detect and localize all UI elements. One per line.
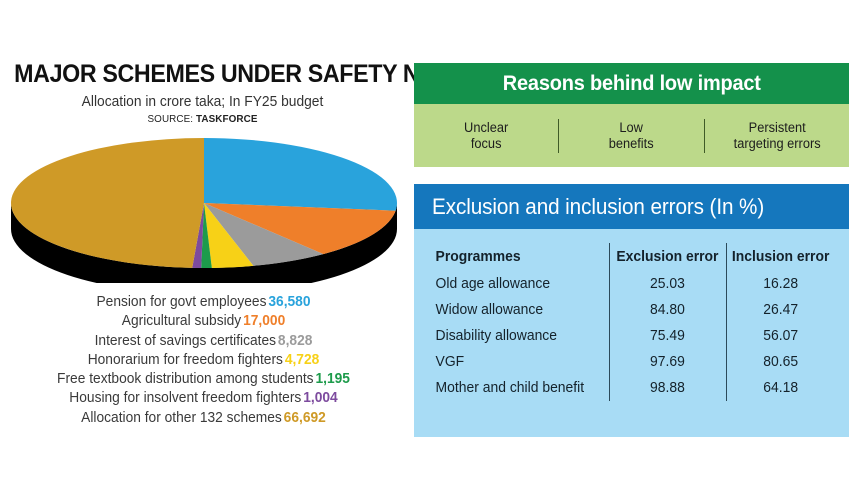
- pie-slice: [204, 138, 397, 211]
- chart-subtitle: Allocation in crore taka; In FY25 budget: [16, 93, 389, 110]
- list-item: Free textbook distribution among student…: [10, 370, 397, 389]
- reason-item-unclear-focus: Unclear focus: [418, 120, 555, 152]
- reasons-panel-header: Reasons behind low impact: [414, 63, 849, 104]
- cell-programme: Disability allowance: [436, 323, 606, 349]
- vertical-divider: [704, 119, 705, 153]
- table-body: Old age allowance 25.03 16.28 Widow allo…: [432, 271, 835, 401]
- list-item: Housing for insolvent freedom fighters1,…: [10, 389, 397, 408]
- source-credit: SOURCE: TASKFORCE: [12, 113, 393, 125]
- cell-exclusion-error: 98.88: [612, 375, 724, 401]
- source-value: TASKFORCE: [196, 113, 258, 125]
- reasons-panel-title: Reasons behind low impact: [503, 72, 761, 96]
- legend-value: 17,000: [241, 313, 285, 329]
- legend-value: 1,004: [301, 390, 337, 406]
- errors-panel: Exclusion and inclusion errors (In %) Pr…: [414, 184, 849, 437]
- legend-label: Free textbook distribution among student…: [57, 371, 314, 387]
- legend-label: Pension for govt employees: [96, 294, 266, 310]
- reasons-panel: Reasons behind low impact Unclear focus …: [414, 63, 849, 167]
- cell-inclusion-error: 80.65: [728, 349, 832, 375]
- reasons-row: Unclear focus Low benefits Persistent ta…: [414, 104, 849, 167]
- page-title: MAJOR SCHEMES UNDER SAFETY NET: [14, 62, 391, 87]
- cell-exclusion-error: 25.03: [612, 271, 724, 297]
- table-row: VGF 97.69 80.65: [432, 349, 835, 375]
- cell-programme: Mother and child benefit: [436, 375, 606, 401]
- table-row: Disability allowance 75.49 56.07: [432, 323, 835, 349]
- source-label: SOURCE:: [147, 113, 195, 125]
- cell-programme: Widow allowance: [436, 297, 606, 323]
- table-head: Programmes Exclusion error Inclusion err…: [432, 243, 835, 271]
- reason-line-2: focus: [418, 136, 555, 152]
- list-item: Interest of savings certificates8,828: [10, 332, 397, 351]
- reason-item-low-benefits: Low benefits: [563, 120, 700, 152]
- reason-line-1: Low: [563, 120, 700, 136]
- table-row: Mother and child benefit 98.88 64.18: [432, 375, 835, 401]
- column-header-exclusion-error: Exclusion error: [612, 243, 724, 271]
- errors-table: Programmes Exclusion error Inclusion err…: [432, 243, 835, 401]
- cell-programme: Old age allowance: [436, 271, 606, 297]
- cell-exclusion-error: 75.49: [612, 323, 724, 349]
- pie-chart: [8, 133, 402, 283]
- column-header-inclusion-error: Inclusion error: [728, 243, 832, 271]
- table-row: Widow allowance 84.80 26.47: [432, 297, 835, 323]
- legend-label: Allocation for other 132 schemes: [81, 410, 282, 426]
- errors-table-wrap: Programmes Exclusion error Inclusion err…: [414, 229, 849, 401]
- list-item: Honorarium for freedom fighters4,728: [10, 351, 397, 370]
- list-item: Agricultural subsidy17,000: [10, 312, 397, 331]
- errors-panel-header: Exclusion and inclusion errors (In %): [414, 184, 849, 229]
- cell-inclusion-error: 64.18: [728, 375, 832, 401]
- legend-value: 66,692: [282, 410, 326, 426]
- cell-inclusion-error: 16.28: [728, 271, 832, 297]
- pie-top-layer: [11, 138, 397, 268]
- reason-item-targeting-errors: Persistent targeting errors: [708, 120, 845, 152]
- cell-programme: VGF: [436, 349, 606, 375]
- pie-chart-panel: MAJOR SCHEMES UNDER SAFETY NET Allocatio…: [0, 0, 410, 482]
- legend-value: 36,580: [266, 294, 310, 310]
- list-item: Allocation for other 132 schemes66,692: [10, 409, 397, 428]
- legend-value: 8,828: [276, 333, 312, 349]
- cell-inclusion-error: 26.47: [728, 297, 832, 323]
- legend-label: Honorarium for freedom fighters: [88, 352, 283, 368]
- vertical-divider: [558, 119, 559, 153]
- pie-chart-svg: [8, 133, 402, 283]
- table-row: Old age allowance 25.03 16.28: [432, 271, 835, 297]
- reason-line-1: Persistent: [708, 120, 845, 136]
- cell-exclusion-error: 97.69: [612, 349, 724, 375]
- reason-line-2: targeting errors: [708, 136, 845, 152]
- cell-exclusion-error: 84.80: [612, 297, 724, 323]
- reason-line-1: Unclear: [418, 120, 555, 136]
- legend-value: 4,728: [283, 352, 319, 368]
- legend-value: 1,195: [314, 371, 350, 387]
- errors-panel-title: Exclusion and inclusion errors (In %): [432, 194, 764, 220]
- legend-label: Housing for insolvent freedom fighters: [69, 390, 301, 406]
- reason-line-2: benefits: [563, 136, 700, 152]
- legend-label: Agricultural subsidy: [122, 313, 241, 329]
- table-header-row: Programmes Exclusion error Inclusion err…: [432, 243, 835, 271]
- list-item: Pension for govt employees36,580: [10, 293, 397, 312]
- legend-label: Interest of savings certificates: [95, 333, 276, 349]
- column-header-programmes: Programmes: [436, 243, 606, 271]
- pie-legend: Pension for govt employees36,580 Agricul…: [0, 293, 407, 428]
- cell-inclusion-error: 56.07: [728, 323, 832, 349]
